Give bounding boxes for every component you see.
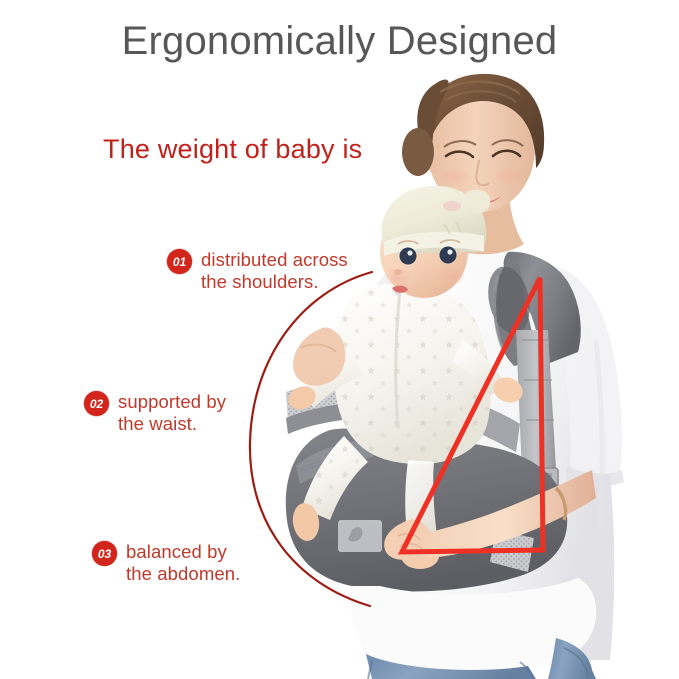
callout-text-03: balanced by the abdomen. xyxy=(126,541,240,585)
infographic-page: Ergonomically Designed The weight of bab… xyxy=(0,0,679,679)
page-title: Ergonomically Designed xyxy=(0,18,679,64)
baby-eye-left xyxy=(400,248,417,265)
callout-02: 02 supported by the waist. xyxy=(84,391,226,435)
callout-03: 03 balanced by the abdomen. xyxy=(92,541,240,585)
hair-bun xyxy=(402,128,434,176)
callout-badge-02: 02 xyxy=(84,391,109,416)
callout-text-02: supported by the waist. xyxy=(118,391,226,435)
callout-badge-03: 03 xyxy=(92,541,117,566)
callout-01: 01 distributed across the shoulders. xyxy=(167,249,348,293)
callout-text-01: distributed across the shoulders. xyxy=(201,249,348,293)
baby-eye-right xyxy=(440,247,457,264)
hat-print xyxy=(443,201,461,211)
subtitle: The weight of baby is xyxy=(103,134,362,165)
callout-badge-01: 01 xyxy=(167,249,192,274)
